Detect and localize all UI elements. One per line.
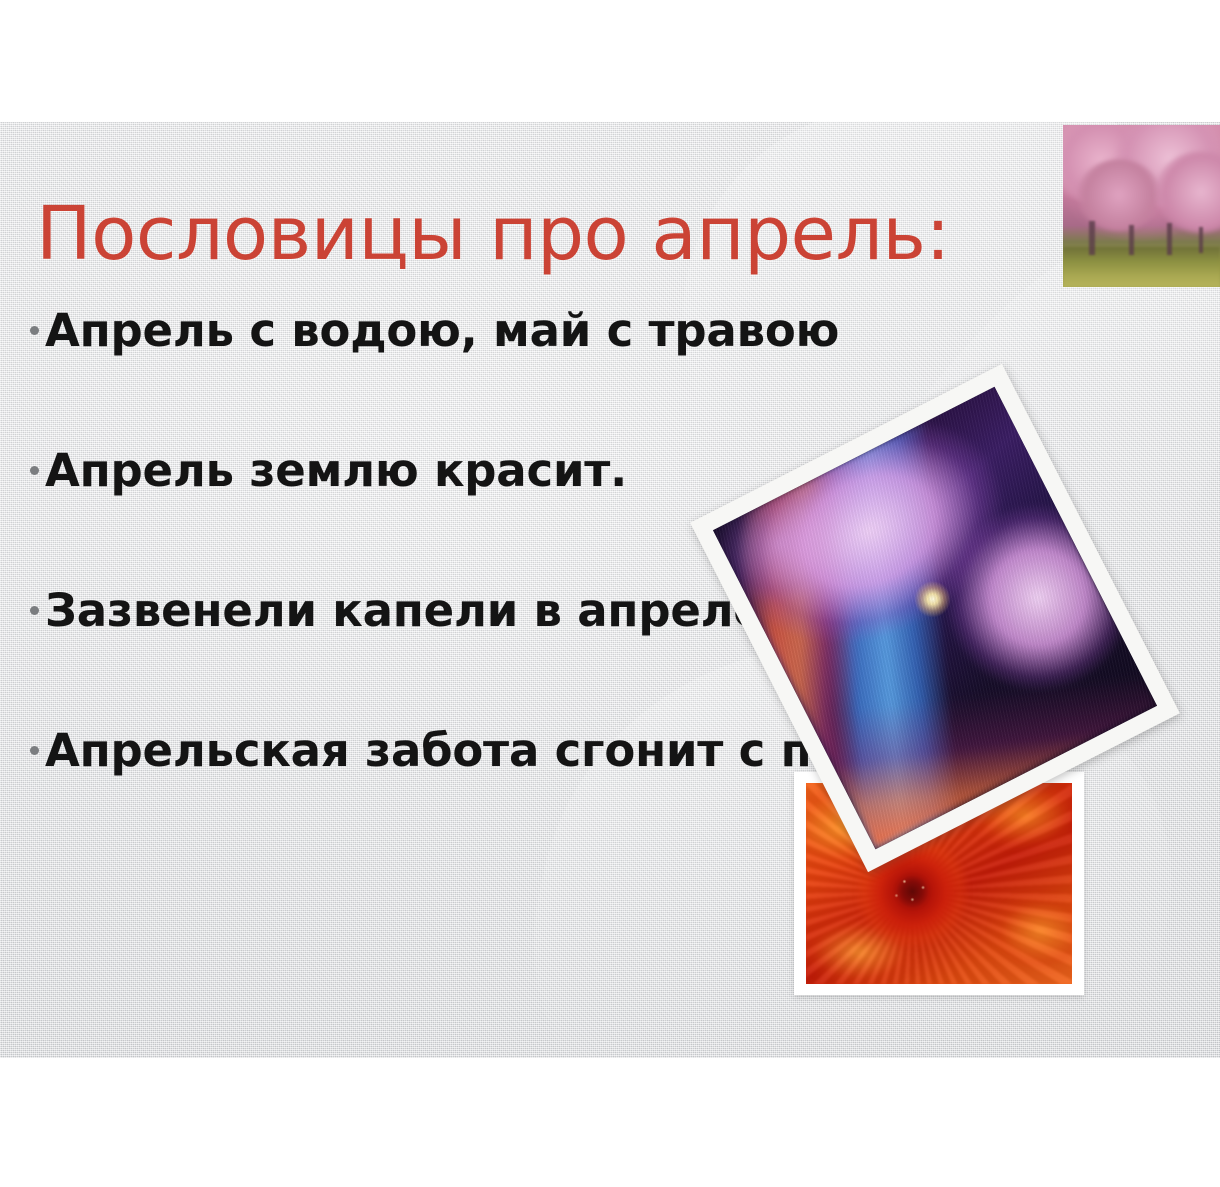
list-item: Апрель с водою, май с травою [30, 304, 1010, 444]
sakura-field-grass [1063, 247, 1220, 287]
tree-trunk [1129, 225, 1134, 255]
slide-title: Пословицы про апрель: [36, 197, 950, 271]
tree-trunk [1199, 227, 1203, 253]
list-item-text: Зазвенели капели в апреле. [45, 584, 781, 637]
list-item-text: Апрель с водою, май с травою [45, 304, 839, 357]
presentation-slide: Пословицы про апрель: Апрель с водою, ма… [0, 122, 1220, 1058]
bullet-dot-icon [30, 746, 39, 755]
list-item-text: Апрельская забота сгонит с печи. [45, 724, 921, 777]
sakura-field-photo [1063, 125, 1220, 287]
bullet-dot-icon [30, 466, 39, 475]
bullet-dot-icon [30, 606, 39, 615]
tree-trunk [1167, 223, 1172, 255]
list-item-text: Апрель землю красит. [45, 444, 627, 497]
bullet-dot-icon [30, 326, 39, 335]
tree-trunk [1089, 221, 1095, 255]
